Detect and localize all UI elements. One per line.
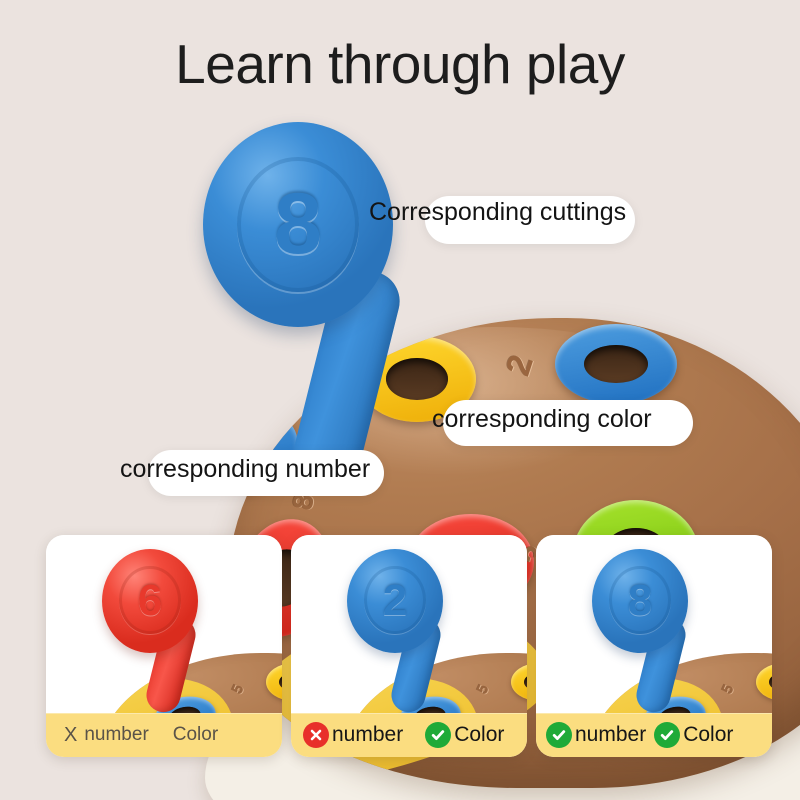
hole-blue-top-right[interactable] bbox=[555, 324, 677, 404]
comparison-card[interactable]: 5 8 8 num bbox=[536, 535, 772, 757]
peg-blue-mini: 8 bbox=[588, 547, 700, 707]
peg-number: 8 bbox=[203, 122, 393, 327]
peg-red-mini: 6 bbox=[98, 547, 210, 707]
criterion-color: Color bbox=[654, 722, 733, 748]
criterion-number: number bbox=[546, 722, 646, 748]
x-mark-plain-icon: X bbox=[64, 724, 77, 747]
criterion-label: Color bbox=[173, 724, 218, 746]
criterion-label: number bbox=[84, 724, 148, 746]
peg-head: 6 bbox=[102, 549, 198, 653]
mini-hole-number-5: 5 bbox=[474, 682, 493, 697]
criterion-color: Color bbox=[173, 724, 218, 746]
criterion-label: number bbox=[332, 723, 403, 747]
criterion-number: X number bbox=[64, 724, 149, 747]
peg-head: 8 bbox=[592, 549, 688, 653]
comparison-card-row: 5 8 6 X number Color bbox=[0, 535, 800, 765]
peg-blue-main[interactable]: 8 bbox=[195, 118, 430, 448]
comparison-card[interactable]: 5 8 6 X number Color bbox=[46, 535, 282, 757]
check-circle-icon bbox=[546, 722, 572, 748]
criterion-color: Color bbox=[425, 722, 504, 748]
peg-blue-mini: 2 bbox=[343, 547, 455, 707]
comparison-card[interactable]: 5 8 2 num bbox=[291, 535, 527, 757]
peg-number: 8 bbox=[592, 549, 688, 653]
mini-hole-yellow bbox=[266, 663, 282, 701]
criterion-label: number bbox=[575, 723, 646, 747]
mini-hole-yellow bbox=[756, 663, 772, 701]
card-photo: 5 8 8 bbox=[536, 535, 772, 713]
peg-number: 6 bbox=[102, 549, 198, 653]
card-photo: 5 8 6 bbox=[46, 535, 282, 713]
card-footer: number Color bbox=[536, 713, 772, 757]
peg-number: 2 bbox=[347, 549, 443, 653]
criterion-label: Color bbox=[454, 723, 504, 747]
criterion-label: Color bbox=[683, 723, 733, 747]
card-footer: X number Color bbox=[46, 713, 282, 757]
mini-hole-yellow bbox=[511, 663, 527, 701]
peg-head: 2 bbox=[347, 549, 443, 653]
product-infographic: Learn through play 5 2 3 bbox=[0, 0, 800, 800]
hole-bore bbox=[584, 345, 647, 383]
x-circle-icon bbox=[303, 722, 329, 748]
page-title: Learn through play bbox=[0, 34, 800, 95]
check-circle-icon bbox=[654, 722, 680, 748]
criterion-number: number bbox=[303, 722, 403, 748]
hole-number-2: 2 bbox=[499, 350, 542, 380]
callout-label-number: corresponding number bbox=[120, 455, 370, 484]
mini-hole-number-5: 5 bbox=[229, 682, 248, 697]
card-footer: number Color bbox=[291, 713, 527, 757]
mini-hole-number-5: 5 bbox=[719, 682, 738, 697]
peg-head: 8 bbox=[203, 122, 393, 327]
callout-label-color: corresponding color bbox=[432, 405, 652, 434]
check-circle-icon bbox=[425, 722, 451, 748]
card-photo: 5 8 2 bbox=[291, 535, 527, 713]
callout-label-cuttings: Corresponding cuttings bbox=[369, 198, 626, 227]
